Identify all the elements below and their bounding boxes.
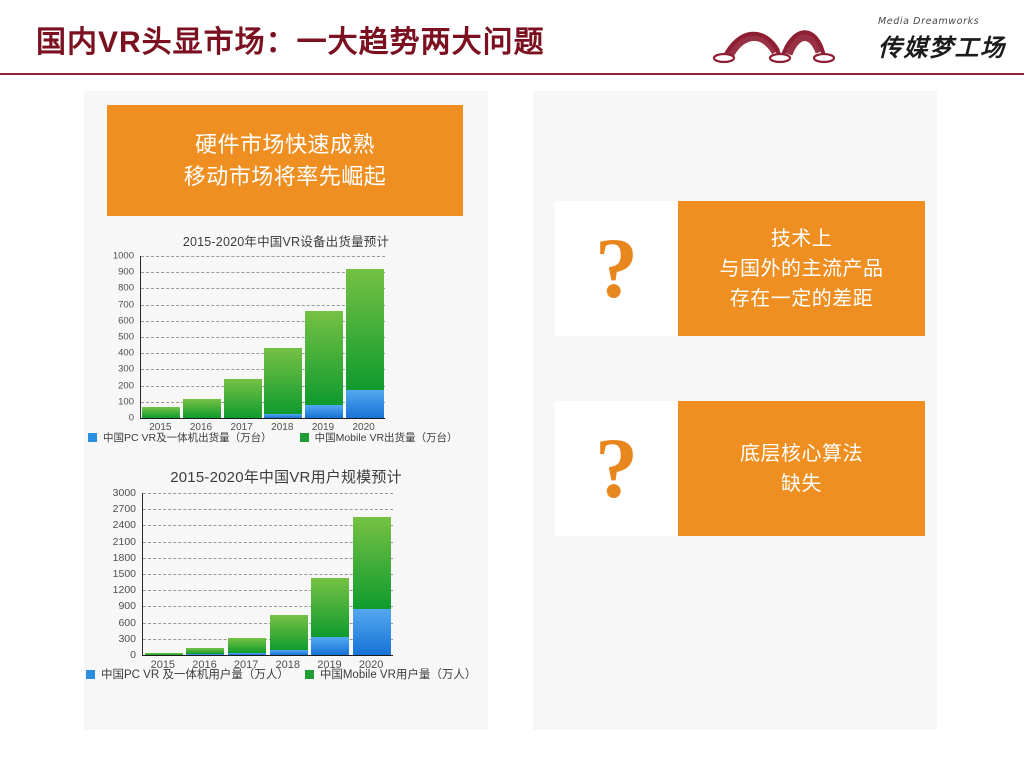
y-axis-tick-label: 900 — [118, 600, 136, 612]
legend-color-swatch — [300, 433, 309, 442]
question-mark-icon: ? — [595, 232, 638, 305]
problem-1-text-box: 技术上 与国外的主流产品 存在一定的差距 — [678, 201, 925, 336]
legend-item: 中国Mobile VR出货量（万台） — [300, 430, 458, 445]
problem-1-text: 技术上 与国外的主流产品 存在一定的差距 — [720, 224, 884, 314]
shipment-chart-title: 2015-2020年中国VR设备出货量预计 — [84, 231, 488, 250]
header-divider — [0, 73, 1024, 75]
bar-segment-mobile — [228, 638, 266, 654]
legend-label: 中国Mobile VR用户量（万人） — [320, 666, 477, 682]
legend-item: 中国Mobile VR用户量（万人） — [305, 666, 477, 682]
users-chart-plot-area — [142, 493, 393, 656]
bar-segment-mobile — [183, 399, 221, 418]
bar-segment-pc — [270, 650, 308, 655]
problem-1-line3: 存在一定的差距 — [720, 284, 884, 314]
problem-1-line1: 技术上 — [720, 224, 884, 254]
problem-card-1: ? 技术上 与国外的主流产品 存在一定的差距 — [555, 201, 925, 336]
y-axis-tick-label: 700 — [118, 299, 134, 310]
y-axis-tick-label: 600 — [118, 617, 136, 629]
page-title: 国内VR头显市场：一大趋势两大问题 — [36, 17, 545, 61]
logo-arch-mark — [712, 18, 872, 64]
shipment-chart-plot: 01002003004005006007008009001000 2015201… — [84, 256, 488, 440]
y-axis-tick-label: 400 — [118, 348, 134, 359]
bar-segment-mobile — [186, 648, 224, 655]
bar-segment-pc — [311, 637, 349, 655]
y-axis-tick-label: 1000 — [113, 251, 134, 262]
trend-banner-text: 硬件市场快速成熟 移动市场将率先崛起 — [184, 129, 387, 193]
bar-column — [353, 493, 391, 655]
logo-wordmark: Media Dreamworks 传媒梦工场 — [878, 16, 1014, 63]
y-axis-tick-label: 2700 — [113, 503, 136, 515]
logo-english-text: Media Dreamworks — [878, 16, 1014, 27]
trend-banner: 硬件市场快速成熟 移动市场将率先崛起 — [107, 105, 463, 216]
bar-column — [186, 493, 224, 655]
legend-color-swatch — [88, 433, 97, 442]
bar-column — [183, 256, 221, 418]
logo-chinese-text: 传媒梦工场 — [878, 28, 1014, 63]
users-chart-plot: 03006009001200150018002100240027003000 2… — [84, 493, 488, 677]
bar-segment-pc — [305, 405, 343, 418]
bar-segment-mobile — [305, 311, 343, 405]
y-axis-tick-label: 1800 — [113, 552, 136, 564]
bar-segment-pc — [346, 390, 384, 418]
problem-2-line1: 底层核心算法 — [740, 439, 863, 469]
bar-segment-mobile — [224, 379, 262, 418]
bar-segment-mobile — [346, 269, 384, 391]
y-axis-tick-label: 3000 — [113, 487, 136, 499]
y-axis-tick-label: 200 — [118, 380, 134, 391]
bar-segment-pc — [186, 654, 224, 655]
bar-column — [270, 493, 308, 655]
right-content-panel: ? 技术上 与国外的主流产品 存在一定的差距 ? 底层核心算法 缺失 — [533, 91, 937, 730]
y-axis-tick-label: 0 — [130, 649, 136, 661]
trend-banner-line1: 硬件市场快速成熟 — [184, 129, 387, 161]
shipment-chart-bars — [141, 256, 385, 418]
bar-segment-mobile — [264, 348, 302, 414]
legend-item: 中国PC VR及一体机出货量（万台） — [88, 430, 272, 445]
problem-2-text-box: 底层核心算法 缺失 — [678, 401, 925, 536]
y-axis-tick-label: 1200 — [113, 584, 136, 596]
bar-column — [228, 493, 266, 655]
y-axis-tick-label: 900 — [118, 267, 134, 278]
bar-column — [142, 256, 180, 418]
bar-segment-pc — [228, 653, 266, 655]
problem-1-line2: 与国外的主流产品 — [720, 254, 884, 284]
y-axis-tick-label: 2100 — [113, 536, 136, 548]
legend-label: 中国Mobile VR出货量（万台） — [315, 430, 458, 445]
problem-card-2: ? 底层核心算法 缺失 — [555, 401, 925, 536]
legend-color-swatch — [305, 670, 314, 679]
bar-column — [264, 256, 302, 418]
bar-column — [311, 493, 349, 655]
left-content-panel: 硬件市场快速成熟 移动市场将率先崛起 2015-2020年中国VR设备出货量预计… — [84, 91, 488, 730]
bar-column — [224, 256, 262, 418]
y-axis-tick-label: 2400 — [113, 519, 136, 531]
bar-column — [145, 493, 183, 655]
users-chart-legend: 中国PC VR 及一体机用户量（万人）中国Mobile VR用户量（万人） — [84, 666, 490, 682]
page-header: 国内VR头显市场：一大趋势两大问题 Media Dreamworks 传媒梦工场 — [0, 0, 1024, 74]
y-axis-tick-label: 300 — [118, 633, 136, 645]
shipment-chart-block: 2015-2020年中国VR设备出货量预计 010020030040050060… — [84, 231, 488, 461]
bar-column — [305, 256, 343, 418]
brand-logo: Media Dreamworks 传媒梦工场 — [712, 12, 1012, 66]
bar-segment-mobile — [353, 517, 391, 608]
y-axis-tick-label: 100 — [118, 396, 134, 407]
bar-segment-mobile — [142, 407, 180, 418]
users-chart-title: 2015-2020年中国VR用户规模预计 — [84, 466, 488, 487]
legend-label: 中国PC VR 及一体机用户量（万人） — [101, 666, 289, 682]
y-axis-tick-label: 600 — [118, 315, 134, 326]
bar-segment-pc — [264, 414, 302, 418]
shipment-chart-legend: 中国PC VR及一体机出货量（万台）中国Mobile VR出货量（万台） — [84, 430, 492, 445]
y-axis-tick-label: 800 — [118, 283, 134, 294]
y-axis-tick-label: 0 — [129, 413, 134, 424]
y-axis-tick-label: 300 — [118, 364, 134, 375]
bar-segment-mobile — [311, 578, 349, 637]
legend-item: 中国PC VR 及一体机用户量（万人） — [86, 666, 289, 682]
problem-2-text: 底层核心算法 缺失 — [740, 439, 863, 499]
y-axis-tick-label: 500 — [118, 332, 134, 343]
problem-1-question-mark-box: ? — [555, 201, 678, 336]
bar-column — [346, 256, 384, 418]
problem-2-question-mark-box: ? — [555, 401, 678, 536]
bar-segment-pc — [353, 609, 391, 655]
users-chart-bars — [143, 493, 393, 655]
problem-2-line2: 缺失 — [740, 469, 863, 499]
y-axis-tick-label: 1500 — [113, 568, 136, 580]
legend-color-swatch — [86, 670, 95, 679]
legend-label: 中国PC VR及一体机出货量（万台） — [103, 430, 272, 445]
bar-segment-mobile — [270, 615, 308, 650]
shipment-chart-plot-area — [140, 256, 385, 419]
users-chart-y-axis: 03006009001200150018002100240027003000 — [84, 493, 136, 655]
question-mark-icon: ? — [595, 432, 638, 505]
trend-banner-line2: 移动市场将率先崛起 — [184, 161, 387, 193]
shipment-chart-y-axis: 01002003004005006007008009001000 — [84, 256, 134, 418]
users-chart-block: 2015-2020年中国VR用户规模预计 0300600900120015001… — [84, 466, 488, 716]
